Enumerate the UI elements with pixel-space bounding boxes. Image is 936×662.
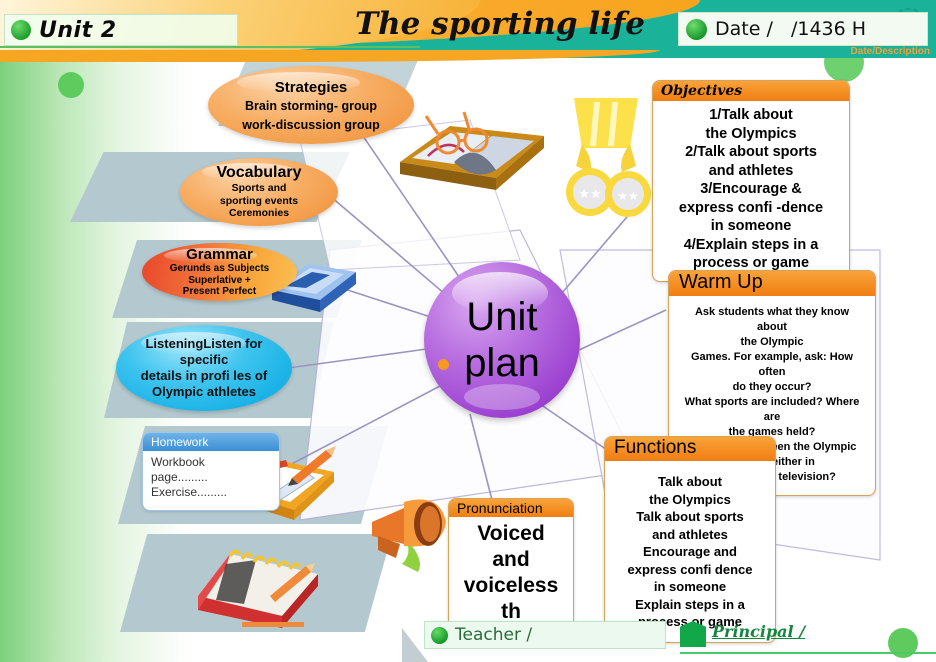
strategies-line-1: Brain storming- group — [242, 99, 380, 113]
footer-green-rule — [680, 652, 936, 654]
center-node-unit-plan[interactable]: Unit plan — [424, 262, 580, 418]
card-objectives[interactable]: Objectives 1/Talk about the Olympics 2/T… — [652, 80, 850, 282]
svg-text:★★: ★★ — [578, 186, 601, 201]
grammar-title: Grammar — [170, 246, 269, 263]
pronunciation-title: Pronunciation — [449, 499, 573, 517]
warm-up-title: Warm Up — [669, 271, 875, 296]
objectives-title: Objectives — [653, 81, 849, 101]
listening-body: ListeningListen for specific details in … — [141, 336, 267, 400]
gold-medals-icon: ★★ ★★ — [556, 94, 656, 234]
homework-body: Workbook page......... Exercise......... — [143, 451, 279, 510]
node-listening[interactable]: ListeningListen for specific details in … — [116, 325, 292, 411]
homework-title: Homework — [143, 433, 279, 451]
strategies-line-2: work-discussion group — [242, 118, 380, 132]
bullet-icon — [431, 627, 448, 644]
center-title-line2: plan — [464, 340, 540, 386]
gloss-highlight-bottom — [464, 384, 540, 410]
functions-body: Talk about the Olympics Talk about sport… — [605, 461, 775, 642]
pronunciation-body: Voiced and voiceless th — [449, 517, 573, 635]
center-title-line1: Unit — [464, 294, 540, 340]
objectives-body: 1/Talk about the Olympics 2/Talk about s… — [653, 101, 849, 281]
open-book-with-glasses-icon — [392, 96, 552, 206]
slide-canvas: Unit 2 The sporting life Date / /1436 H … — [0, 0, 936, 662]
card-pronunciation[interactable]: Pronunciation Voiced and voiceless th — [448, 498, 574, 636]
center-dot-icon — [438, 359, 449, 370]
card-functions[interactable]: Functions Talk about the Olympics Talk a… — [604, 436, 776, 643]
teacher-signature-field[interactable]: Teacher / — [424, 621, 666, 649]
svg-text:★★: ★★ — [617, 189, 639, 203]
spiral-notepad-with-pencil-icon — [186, 534, 326, 630]
teacher-label: Teacher / — [455, 625, 532, 645]
vocabulary-body: Sports and sporting events Ceremonies — [216, 182, 301, 220]
node-vocabulary[interactable]: Vocabulary Sports and sporting events Ce… — [180, 158, 338, 226]
strategies-title: Strategies — [242, 79, 380, 96]
node-grammar[interactable]: Grammar Gerunds as Subjects Superlative … — [142, 243, 297, 301]
card-homework[interactable]: Homework Workbook page......... Exercise… — [142, 432, 280, 511]
node-strategies[interactable]: Strategies Brain storming- group work-di… — [208, 66, 414, 144]
grammar-body: Gerunds as Subjects Superlative + Presen… — [170, 263, 269, 298]
functions-title: Functions — [605, 437, 775, 461]
principal-label: Principal / — [712, 622, 805, 641]
vocabulary-title: Vocabulary — [216, 164, 301, 182]
